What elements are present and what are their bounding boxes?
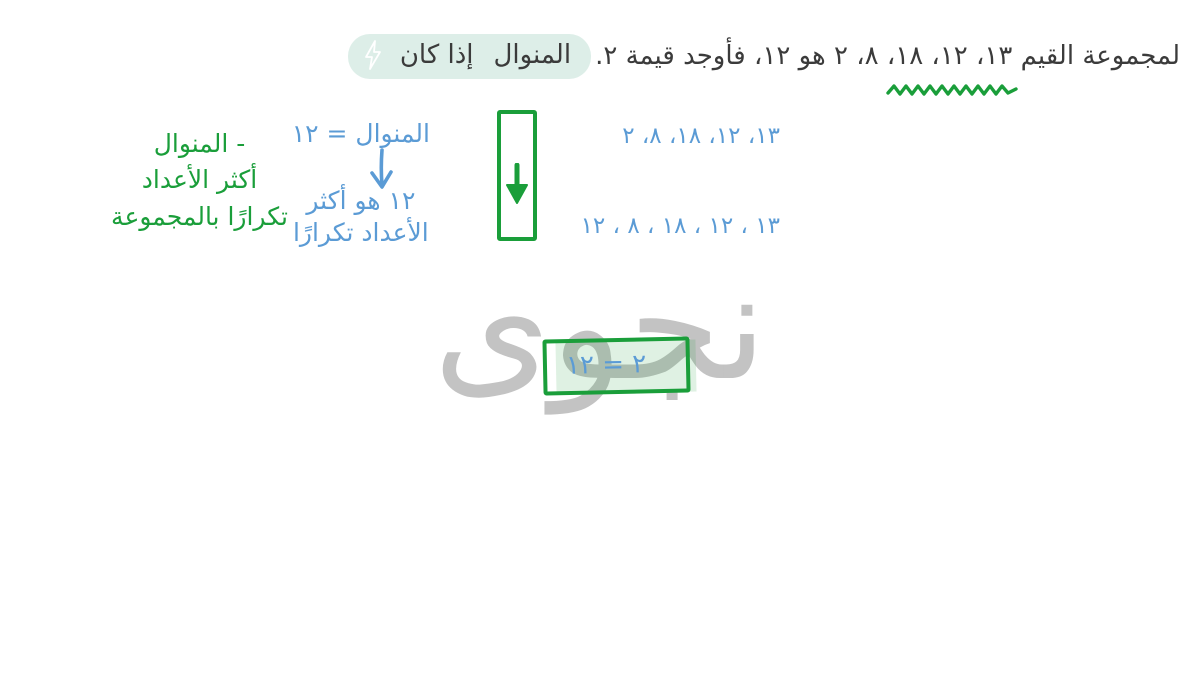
mode-reasoning-note: المنوال = ١٢ ١٢ هو أكثر الأعداد تكرارًا bbox=[292, 118, 430, 248]
question-highlight-badge: المنوال إذا كان bbox=[348, 34, 591, 79]
reasoning-line-2: ١٢ هو أكثر bbox=[292, 185, 430, 216]
reasoning-line-3: الأعداد تكرارًا bbox=[292, 217, 430, 248]
answer-value: ٢ = ١٢ bbox=[566, 348, 647, 382]
question-text-tail: لمجموعة القيم ١٣، ١٢، ١٨، ٨، ٢ هو ١٢، فأ… bbox=[591, 40, 1184, 73]
definition-line-2: أكثر الأعداد bbox=[111, 162, 288, 198]
question-statement: لمجموعة القيم ١٣، ١٢، ١٨، ٨، ٢ هو ١٢، فأ… bbox=[16, 34, 1184, 79]
question-underlined-term: المنوال bbox=[490, 39, 576, 72]
lesson-canvas: نجوى لمجموعة القيم ١٣، ١٢، ١٨، ٨، ٢ هو ١… bbox=[0, 0, 1200, 675]
mode-definition-note: - المنوال أكثر الأعداد تكرارًا بالمجموعة bbox=[111, 126, 288, 235]
squiggle-underline-icon bbox=[886, 82, 1018, 98]
working-values-original: ١٣، ١٢، ١٨، ٨، ٢ bbox=[622, 122, 780, 151]
lightning-bolt-icon bbox=[362, 40, 384, 70]
question-text-head: إذا كان bbox=[396, 39, 478, 72]
definition-line-1: - المنوال bbox=[111, 126, 288, 162]
reasoning-line-1: المنوال = ١٢ bbox=[292, 118, 430, 149]
definition-line-3: تكرارًا بالمجموعة bbox=[111, 199, 288, 235]
substitution-down-arrow-icon bbox=[504, 163, 530, 205]
working-values-substituted: ١٣ ، ١٢ ، ١٨ ، ٨ ، ١٢ bbox=[581, 212, 780, 241]
